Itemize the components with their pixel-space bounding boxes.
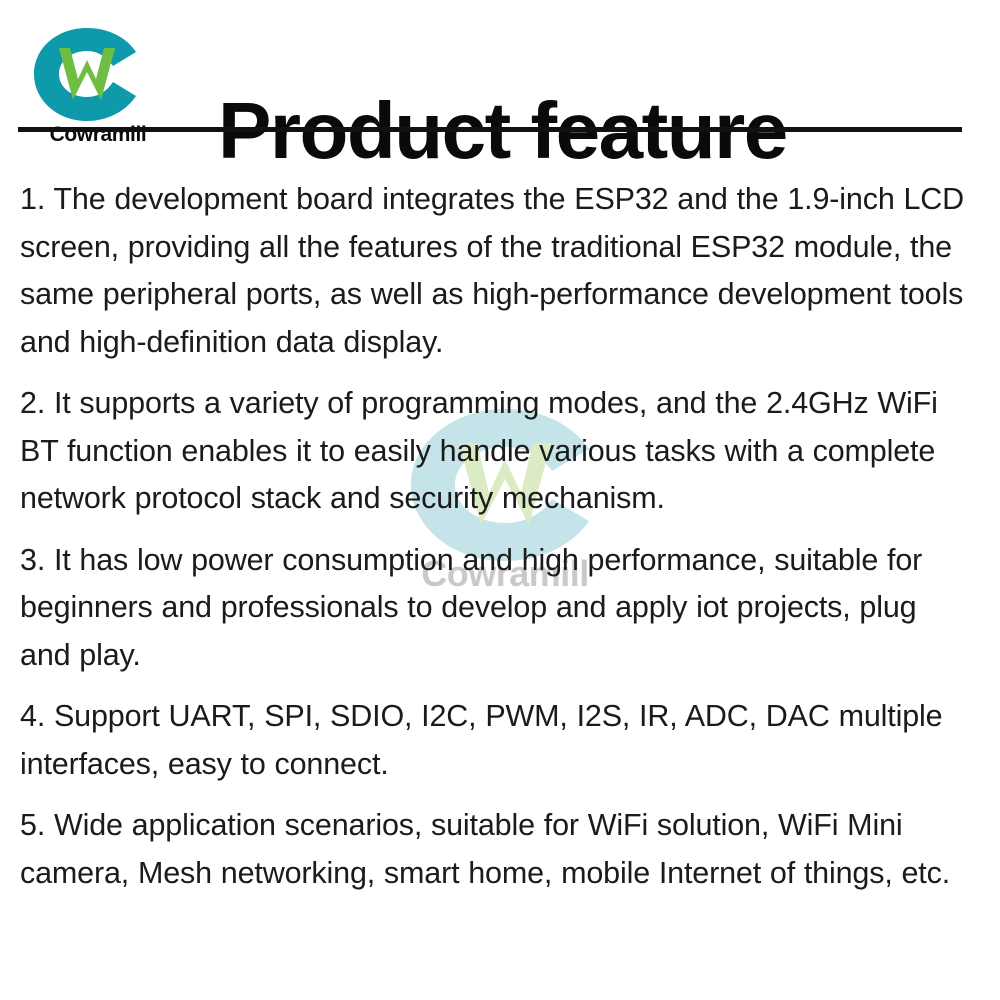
product-feature-page: Cowramill Cowramill Product feature 1. T…: [0, 0, 1000, 1000]
feature-item-2: 2. It supports a variety of programming …: [20, 380, 966, 523]
feature-item-1: 1. The development board integrates the …: [20, 176, 966, 366]
cowramill-c-w-logo-icon: [28, 22, 146, 127]
feature-item-5: 5. Wide application scenarios, suitable …: [20, 802, 966, 897]
brand-logo: Cowramill: [28, 22, 146, 140]
feature-list: 1. The development board integrates the …: [20, 176, 966, 897]
page-header: Cowramill Product feature: [0, 0, 1000, 140]
header-divider: [18, 127, 962, 132]
feature-item-3: 3. It has low power consumption and high…: [20, 537, 966, 680]
feature-item-4: 4. Support UART, SPI, SDIO, I2C, PWM, I2…: [20, 693, 966, 788]
